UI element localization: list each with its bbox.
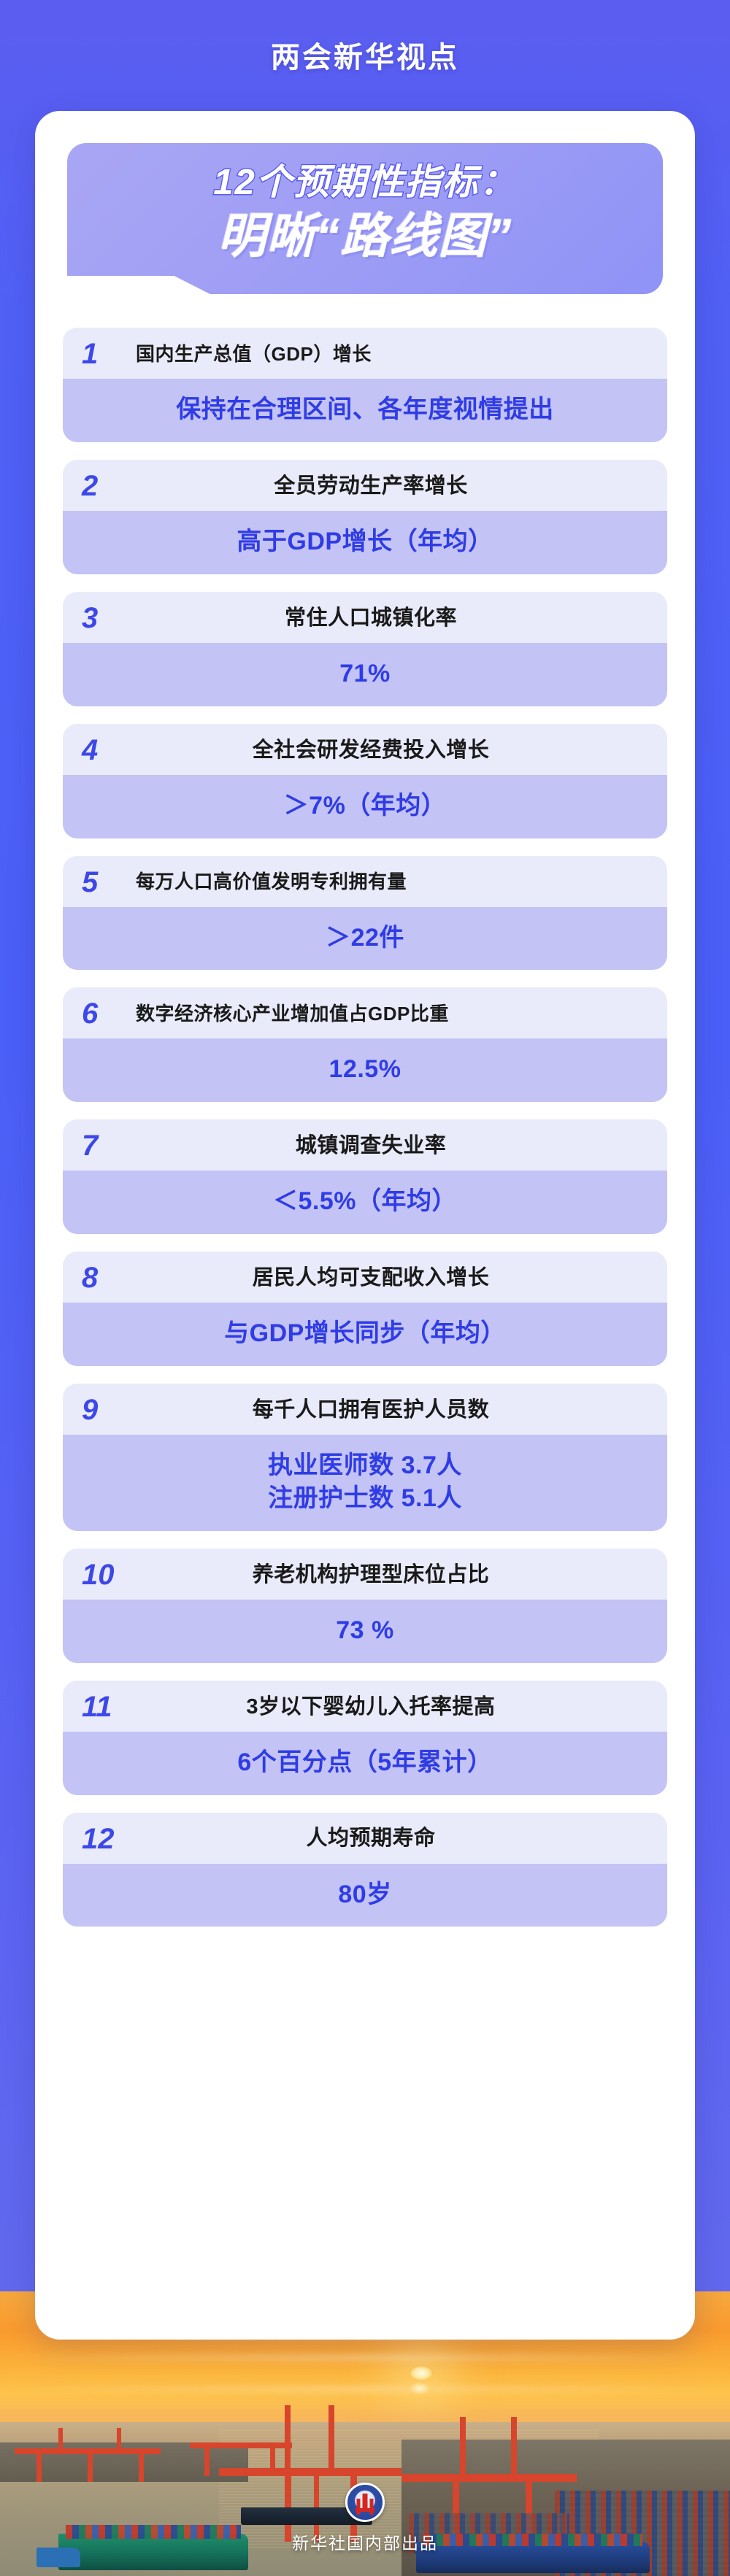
indicator-label: 人均预期寿命 (136, 1825, 648, 1851)
indicator-label: 数字经济核心产业增加值占GDP比重 (136, 1002, 648, 1026)
indicator-card[interactable]: 7城镇调查失业率＜5.5%（年均） (63, 1119, 667, 1234)
photo-gantry-mast (328, 2405, 334, 2474)
indicator-number: 6 (82, 999, 136, 1028)
indicator-value: 执业医师数 3.7人注册护士数 5.1人 (63, 1435, 667, 1531)
indicator-number: 3 (82, 603, 136, 633)
indicator-header: 4全社会研发经费投入增长 (63, 724, 667, 775)
indicator-header: 5每万人口高价值发明专利拥有量 (63, 856, 667, 907)
indicator-card[interactable]: 8居民人均可支配收入增长与GDP增长同步（年均） (63, 1252, 667, 1366)
indicator-value-line: ＞22件 (76, 922, 654, 955)
indicator-value-line: 保持在合理区间、各年度视情提出 (76, 393, 654, 426)
indicator-label: 全社会研发经费投入增长 (136, 737, 648, 763)
indicator-value-line: 注册护士数 5.1人 (76, 1482, 654, 1515)
indicator-list: 1国内生产总值（GDP）增长保持在合理区间、各年度视情提出2全员劳动生产率增长高… (63, 328, 667, 1927)
indicator-header: 6数字经济核心产业增加值占GDP比重 (63, 987, 667, 1038)
indicator-label: 常住人口城镇化率 (136, 605, 648, 631)
indicator-number: 7 (82, 1131, 136, 1160)
indicator-card[interactable]: 9每千人口拥有医护人员数执业医师数 3.7人注册护士数 5.1人 (63, 1384, 667, 1531)
indicator-label: 养老机构护理型床位占比 (136, 1562, 648, 1588)
indicator-value-line: 与GDP增长同步（年均） (76, 1317, 654, 1350)
indicator-label: 全员劳动生产率增长 (136, 473, 648, 499)
photo-gantry-boom (219, 2468, 401, 2476)
photo-crane-mast (58, 2428, 63, 2450)
xinhua-logo-icon (345, 2483, 385, 2522)
indicator-label: 每万人口高价值发明专利拥有量 (136, 870, 648, 894)
card-inner: 12个预期性指标： 明晰“路线图” 1国内生产总值（GDP）增长保持在合理区间、… (35, 111, 695, 2340)
indicator-card[interactable]: 6数字经济核心产业增加值占GDP比重12.5% (63, 987, 667, 1102)
indicator-value-line: 执业医师数 3.7人 (76, 1449, 654, 1482)
photo-gantry-mast (460, 2417, 466, 2480)
indicator-label: 国内生产总值（GDP）增长 (136, 342, 648, 366)
title-banner-line-1: 12个预期性指标： (80, 162, 650, 204)
indicator-header: 113岁以下婴幼儿入托率提高 (63, 1681, 667, 1732)
indicator-card[interactable]: 10养老机构护理型床位占比73 % (63, 1549, 667, 1663)
indicator-number: 5 (82, 868, 136, 897)
indicator-value-line: 6个百分点（5年累计） (76, 1746, 654, 1779)
photo-crane-leg (88, 2448, 93, 2483)
indicator-number: 2 (82, 471, 136, 501)
indicator-value-line: ＞7%（年均） (76, 790, 654, 822)
footer-credit: 新华社国内部出品 (292, 2529, 438, 2554)
indicator-number: 4 (82, 736, 136, 765)
title-banner: 12个预期性指标： 明晰“路线图” (67, 143, 663, 294)
indicator-header: 8居民人均可支配收入增长 (63, 1252, 667, 1303)
indicator-header: 10养老机构护理型床位占比 (63, 1549, 667, 1600)
indicator-value-line: 73 % (76, 1614, 654, 1647)
page-footer: 新华社国内部出品 (0, 2483, 730, 2554)
indicator-value-line: ＜5.5%（年均） (76, 1185, 654, 1218)
indicator-number: 1 (82, 339, 136, 369)
indicator-label: 3岁以下婴幼儿入托率提高 (136, 1694, 648, 1720)
indicator-header: 1国内生产总值（GDP）增长 (63, 328, 667, 379)
indicator-card[interactable]: 2全员劳动生产率增长高于GDP增长（年均） (63, 460, 667, 574)
photo-crane-leg (204, 2442, 210, 2477)
indicator-value: 71% (63, 643, 667, 706)
photo-crane-mast (117, 2428, 121, 2450)
indicator-header: 9每千人口拥有医护人员数 (63, 1384, 667, 1435)
indicator-value: ＞22件 (63, 907, 667, 971)
photo-crane-leg (36, 2448, 42, 2483)
indicator-number: 11 (82, 1692, 136, 1721)
indicator-number: 12 (82, 1824, 136, 1854)
indicator-value: 保持在合理区间、各年度视情提出 (63, 379, 667, 442)
indicator-value-line: 71% (76, 658, 654, 690)
indicator-card[interactable]: 12人均预期寿命80岁 (63, 1813, 667, 1927)
photo-gantry-boom (401, 2474, 577, 2482)
indicator-card[interactable]: 1国内生产总值（GDP）增长保持在合理区间、各年度视情提出 (63, 328, 667, 442)
indicator-card[interactable]: 3常住人口城镇化率71% (63, 592, 667, 706)
indicator-value-line: 12.5% (76, 1053, 654, 1086)
indicator-value: 高于GDP增长（年均） (63, 511, 667, 574)
page-title: 两会新华视点 (271, 34, 459, 76)
indicator-label: 每千人口拥有医护人员数 (136, 1397, 648, 1423)
indicator-value: ＜5.5%（年均） (63, 1171, 667, 1234)
page-header: 两会新华视点 (0, 0, 730, 109)
indicator-value: 80岁 (63, 1864, 667, 1927)
indicator-value-line: 高于GDP增长（年均） (76, 525, 654, 558)
indicator-number: 9 (82, 1395, 136, 1424)
indicator-header: 3常住人口城镇化率 (63, 592, 667, 643)
title-banner-line-2: 明晰“路线图” (80, 207, 650, 265)
photo-sun-reflection (410, 2383, 429, 2394)
indicator-header: 12人均预期寿命 (63, 1813, 667, 1864)
photo-crane-leg (139, 2448, 144, 2483)
main-card: 12个预期性指标： 明晰“路线图” 1国内生产总值（GDP）增长保持在合理区间、… (35, 111, 695, 2340)
indicator-value: 12.5% (63, 1038, 667, 1102)
indicator-value-line: 80岁 (76, 1878, 654, 1911)
indicator-number: 8 (82, 1263, 136, 1292)
indicator-number: 10 (82, 1560, 136, 1589)
photo-cloud-band (0, 2386, 730, 2393)
indicator-label: 居民人均可支配收入增长 (136, 1265, 648, 1291)
indicator-value: ＞7%（年均） (63, 775, 667, 838)
indicator-card[interactable]: 113岁以下婴幼儿入托率提高6个百分点（5年累计） (63, 1681, 667, 1795)
indicator-card[interactable]: 4全社会研发经费投入增长＞7%（年均） (63, 724, 667, 838)
indicator-card[interactable]: 5每万人口高价值发明专利拥有量＞22件 (63, 856, 667, 971)
indicator-value: 与GDP增长同步（年均） (63, 1303, 667, 1366)
indicator-header: 2全员劳动生产率增长 (63, 460, 667, 511)
indicator-header: 7城镇调查失业率 (63, 1119, 667, 1171)
photo-gantry-mast (285, 2405, 291, 2474)
photo-cloud-band (0, 2354, 730, 2361)
indicator-value: 73 % (63, 1600, 667, 1663)
indicator-value: 6个百分点（5年累计） (63, 1732, 667, 1795)
indicator-label: 城镇调查失业率 (136, 1133, 648, 1159)
photo-gantry-mast (511, 2417, 517, 2480)
